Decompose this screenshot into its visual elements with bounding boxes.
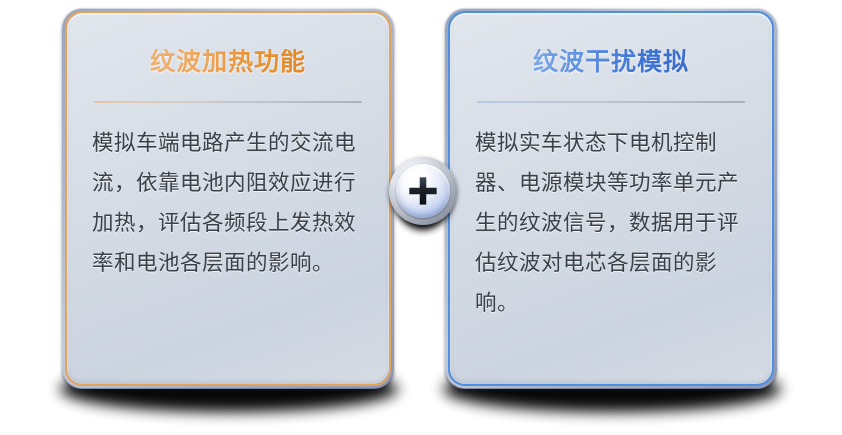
plus-icon xyxy=(389,157,457,225)
card-description-ripple-interference: 模拟实车状态下电机控制器、电源模块等功率单元产生的纹波信号，数据用于评估纹波对电… xyxy=(475,123,747,323)
card-divider-left xyxy=(94,101,362,103)
card-description-ripple-heating: 模拟车端电路产生的交流电流，依靠电池内阻效应进行加热，评估各频段上发热效率和电池… xyxy=(92,123,364,283)
card-divider-right xyxy=(477,101,745,103)
slide-canvas: 纹波加热功能 模拟车端电路产生的交流电流，依靠电池内阻效应进行加热，评估各频段上… xyxy=(0,0,842,435)
card-ripple-interference[interactable]: 纹波干扰模拟 模拟实车状态下电机控制器、电源模块等功率单元产生的纹波信号，数据用… xyxy=(445,8,777,389)
card-title-ripple-heating: 纹波加热功能 xyxy=(150,49,306,77)
plus-connector-badge[interactable] xyxy=(389,157,457,225)
card-title-ripple-interference: 纹波干扰模拟 xyxy=(533,49,689,77)
card-body-left: 纹波加热功能 模拟车端电路产生的交流电流，依靠电池内阻效应进行加热，评估各频段上… xyxy=(67,13,389,384)
card-body-right: 纹波干扰模拟 模拟实车状态下电机控制器、电源模块等功率单元产生的纹波信号，数据用… xyxy=(450,13,772,384)
card-ripple-heating[interactable]: 纹波加热功能 模拟车端电路产生的交流电流，依靠电池内阻效应进行加热，评估各频段上… xyxy=(62,8,394,389)
